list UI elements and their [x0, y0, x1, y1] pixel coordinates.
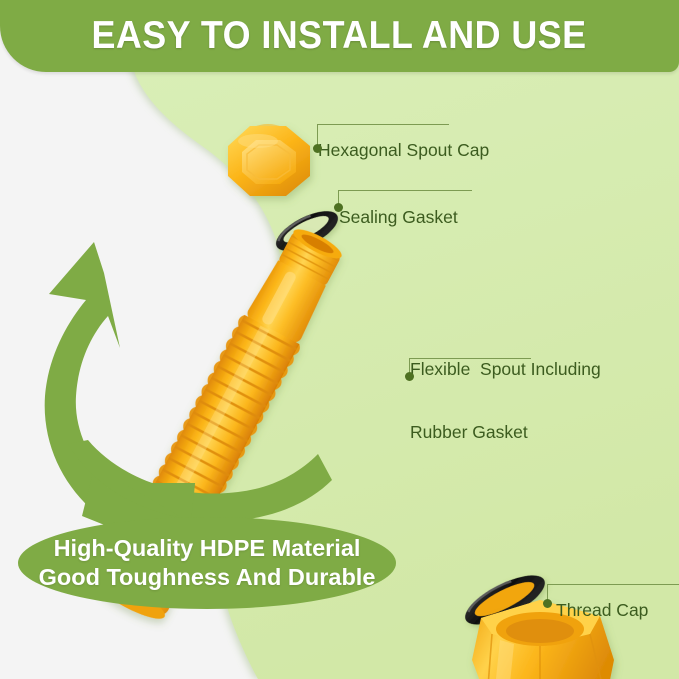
label-sealing-gasket-line-1: Sealing Gasket [339, 207, 458, 228]
quality-bubble-text: High-Quality HDPE Material Good Toughnes… [18, 517, 396, 609]
label-sealing-gasket-dot [334, 203, 343, 212]
quality-bubble-line-1: High-Quality HDPE Material [54, 534, 361, 563]
label-flexible-spout-line-1: Flexible Spout Including [410, 359, 601, 380]
label-thread-cap-line-1: Thread Cap [556, 600, 648, 621]
page-title: EASY TO INSTALL AND USE [92, 14, 587, 58]
label-thread-cap: Thread Cap [556, 558, 648, 663]
label-thread-cap-dot [543, 599, 552, 608]
label-sealing-gasket: Sealing Gasket [339, 165, 458, 270]
header-banner: EASY TO INSTALL AND USE [0, 0, 679, 72]
label-flexible-spout: Flexible Spout Including Rubber Gasket [410, 317, 601, 485]
quality-bubble-line-2: Good Toughness And Durable [39, 563, 376, 592]
infographic-canvas: EASY TO INSTALL AND USE [0, 0, 679, 679]
hexagonal-spout-cap-part [228, 124, 310, 196]
label-flexible-spout-dot [405, 372, 414, 381]
label-hexagonal-spout-cap-dot [313, 144, 322, 153]
label-hexagonal-spout-cap-line-1: Hexagonal Spout Cap [318, 140, 489, 161]
label-flexible-spout-line-2: Rubber Gasket [410, 422, 601, 443]
